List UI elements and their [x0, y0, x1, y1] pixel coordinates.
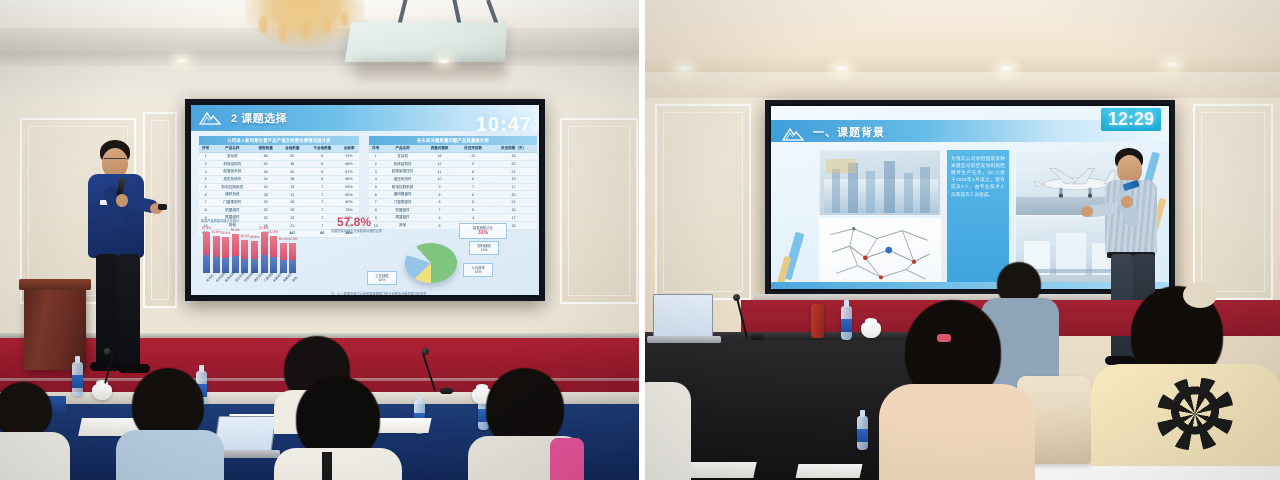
table-row: 5航电控制系统9717	[369, 183, 537, 191]
tea-cup	[92, 384, 112, 400]
table-cell: 32	[252, 206, 279, 214]
table-cell: 20	[490, 191, 537, 199]
table-cell: 80%	[339, 199, 359, 207]
laptop-screen	[653, 294, 713, 338]
bar-segment-top	[241, 240, 248, 259]
document-stack	[374, 418, 431, 433]
table-cell: 46	[279, 160, 306, 168]
table-row: 3起落架液压件11821	[369, 168, 537, 176]
table-header-cell: 改进完成数	[456, 145, 490, 152]
table-row: 1发动机6862691%	[199, 152, 359, 160]
slide-title-right: 一、课题背景	[813, 124, 885, 140]
table-cell: 86%	[339, 176, 359, 184]
bar-segment-bottom	[203, 255, 210, 273]
pie-chart	[405, 243, 457, 283]
table-cell: 7	[199, 199, 212, 207]
ceiling-downlight	[675, 64, 693, 73]
table-row: 1发动机161218	[369, 152, 537, 160]
ceiling-downlight	[437, 58, 451, 64]
bar-value-label: 51.8%	[212, 230, 221, 234]
thermos-flask	[811, 304, 824, 338]
presenter-hand-left	[116, 194, 128, 207]
table-cell: 7	[306, 183, 339, 191]
table-cell: 3	[369, 168, 382, 176]
wall-panel	[655, 104, 751, 300]
table-caption: 各车间关键质量问题产品数量统计表	[369, 136, 537, 145]
table-cell: 门窗零部件	[382, 199, 422, 207]
table-row: 3起落架系统4640687%	[199, 168, 359, 176]
table-cell: 38	[279, 176, 306, 184]
table-cell: 40	[279, 168, 306, 176]
table-row: 6通风系统3831782%	[199, 191, 359, 199]
bar-chart-bar: 57.8%	[261, 232, 268, 273]
bar-segment-top	[251, 241, 258, 259]
pie-legend-value: 62%	[370, 278, 394, 282]
presenter-hand-left	[1121, 196, 1133, 208]
water-bottle	[72, 362, 83, 396]
mountain-logo-icon	[198, 110, 224, 126]
table-cell: 17	[490, 214, 537, 222]
table-row: 2机体结构件12922	[369, 160, 537, 168]
pie-legend-value: 13%	[472, 248, 496, 252]
table-cell: 2	[199, 160, 212, 168]
table-microphone-head	[104, 348, 111, 355]
bar-chart-bar: 50.4%	[222, 237, 229, 273]
table-cell: 7	[423, 206, 457, 214]
table-cell: 12	[456, 152, 490, 160]
pie-legend-3: 材料缺陷 13%	[469, 241, 499, 255]
table-cell: 5	[369, 183, 382, 191]
computer-mouse	[727, 334, 741, 343]
table-cell: 尾翼组件	[382, 214, 422, 222]
table-cell: 8	[423, 199, 457, 207]
table-row: 7门窗零部件3528780%	[199, 199, 359, 207]
table-header-cell: 合格数量	[279, 145, 306, 152]
highlight-percent: 57.8%	[337, 215, 371, 229]
table-cell: 68	[252, 152, 279, 160]
table-cell: 7	[306, 206, 339, 214]
chart-note: 各类产品质量问题占比统计	[201, 218, 239, 223]
table-cell: 门窗零部件	[212, 199, 252, 207]
bar-chart-bar: 42.3%	[289, 243, 296, 273]
table-cell: 6	[306, 176, 339, 184]
bar-value-label: 54.6%	[231, 228, 240, 232]
table-cell: 12	[423, 160, 457, 168]
table-cell: 机翼组件	[382, 206, 422, 214]
document-stack	[796, 464, 863, 478]
presenter-left	[78, 140, 158, 380]
table-cell: 起落架系统	[212, 168, 252, 176]
table-cell: 17	[490, 183, 537, 191]
table-cell: 11	[423, 168, 457, 176]
table-cell: 8	[423, 191, 457, 199]
table-cell: 8	[456, 176, 490, 184]
bar-value-label: 50.4%	[221, 231, 230, 235]
table-cell: 87%	[339, 168, 359, 176]
table-cell: 3	[199, 168, 212, 176]
mountain-logo-icon	[781, 126, 807, 142]
dual-photo-composite: 2 课题选择 10:47 公司进入新时期主营产品产值及经营业绩情况统计表 序号产…	[0, 0, 1280, 480]
table-cell: 起落架液压件	[382, 168, 422, 176]
bar-category-label: 通风系统	[253, 275, 261, 283]
table-cell: 22	[490, 160, 537, 168]
hair-clip	[1183, 282, 1217, 308]
table-cell: 4	[369, 176, 382, 184]
bar-segment-top	[280, 243, 287, 260]
table-cell: 液压系统件	[382, 176, 422, 184]
table-header-cell: 序号	[199, 145, 212, 152]
table-cell: 10	[423, 176, 457, 184]
ceiling-projector	[345, 22, 507, 62]
clock-right: 12:29	[1101, 108, 1161, 131]
data-table-right: 各车间关键质量问题产品数量统计表 序号产品名称质量问题数改进完成数改进周期（天）…	[369, 136, 537, 230]
bar-chart-bar: 51.8%	[213, 236, 220, 273]
bar-segment-top	[232, 234, 239, 256]
bar-chart-bar: 57.8%	[203, 232, 210, 273]
table-cell: 16	[490, 206, 537, 214]
stats-table-products: 序号产品名称销售数量合格数量不合格数量合格率 1发动机6862691%2机体结构…	[199, 145, 359, 237]
table-cell: 83%	[339, 183, 359, 191]
bar-value-label: 42.3%	[288, 237, 297, 241]
bar-chart-bar: 52.8%	[270, 236, 277, 273]
projector-shadow	[356, 60, 506, 80]
table-cell: 31	[279, 191, 306, 199]
table-cell: 30	[252, 214, 279, 222]
bar-value-label: 52.8%	[269, 230, 278, 234]
table-cell: 33	[279, 183, 306, 191]
table-row: 8机翼组件3225778%	[199, 206, 359, 214]
bar-category-label: 门窗零部件	[263, 275, 271, 283]
table-cell: 7	[306, 199, 339, 207]
table-cell: 4	[456, 214, 490, 222]
bar-chart: 57.8%51.8%50.4%54.6%46.4%45.6%57.8%52.8%…	[203, 227, 296, 273]
table-header-cell: 质量问题数	[423, 145, 457, 152]
ceiling-upper	[645, 0, 1280, 64]
table-cell: 23	[279, 214, 306, 222]
table-cell: 5	[199, 183, 212, 191]
table-row: 9尾翼组件6417	[369, 214, 537, 222]
table-cell: 91%	[339, 152, 359, 160]
table-cell: 7	[306, 191, 339, 199]
bar-chart-xaxis: 发动机机体结构件起落架系统液压系统件航电控制系统通风系统门窗零部件机翼组件尾翼组…	[203, 275, 296, 279]
table-cell: 发动机	[212, 152, 252, 160]
table-row: 8机翼组件7516	[369, 206, 537, 214]
table-cell: 52	[252, 160, 279, 168]
table-cell: 机体结构件	[212, 160, 252, 168]
table-cell: 62	[279, 152, 306, 160]
slide-left: 2 课题选择 10:47 公司进入新时期主营产品产值及经营业绩情况统计表 序号产…	[191, 105, 539, 295]
table-cell: 通风管道件	[382, 191, 422, 199]
bar-value-label: 43.1%	[279, 237, 288, 241]
document-stack	[683, 462, 756, 478]
bar-category-label: 起落架系统	[224, 275, 232, 283]
table-header-cell: 不合格数量	[306, 145, 339, 152]
table-cell: 6	[456, 191, 490, 199]
table-cell: 82%	[339, 191, 359, 199]
table-cell: 21	[490, 168, 537, 176]
table-cell: 6	[306, 168, 339, 176]
table-cell: 8	[456, 168, 490, 176]
table-cell: 液压系统件	[212, 176, 252, 184]
table-header-cell: 产品名称	[212, 145, 252, 152]
presenter-hand-right	[1081, 206, 1093, 217]
bar-category-label: 尾翼组件	[282, 275, 290, 283]
table-cell: 8	[369, 206, 382, 214]
bar-value-label: 57.8%	[202, 226, 211, 230]
table-microphone-head	[733, 294, 740, 301]
table-cell: 88%	[339, 160, 359, 168]
bar-category-label: 机翼组件	[272, 275, 280, 283]
right-conference-photo: 一、课题背景 12:29	[645, 0, 1280, 480]
table-cell: 9	[456, 160, 490, 168]
bar-value-label: 57.8%	[260, 226, 269, 230]
table-cell: 5	[456, 199, 490, 207]
bar-value-label: 46.4%	[240, 234, 249, 238]
table-header-cell: 销售数量	[252, 145, 279, 152]
table-row: 4液压系统件4438686%	[199, 176, 359, 184]
table-cell: 1	[199, 152, 212, 160]
table-header-cell: 序号	[369, 145, 382, 152]
background-text-block: 为落实公司承担国家某种关键型号航空发动机机匣模件生产任务，QC小组于2019年1…	[947, 150, 1009, 289]
pie-legend-2: 人为操作 18%	[463, 263, 493, 277]
table-header-cell: 产品名称	[382, 145, 422, 152]
laptop-keyboard	[647, 336, 721, 343]
table-cell: 1	[369, 152, 382, 160]
pipeline-map-diagram	[819, 218, 941, 289]
presenter-glasses	[104, 158, 126, 163]
table-row: 4液压系统件10819	[369, 176, 537, 184]
table-cell: 6	[423, 214, 457, 222]
table-microphone-base	[751, 334, 764, 340]
bar-chart-bar: 46.4%	[241, 240, 248, 273]
ceiling-downlight	[1163, 60, 1181, 69]
bar-category-label: 机体结构件	[215, 275, 223, 283]
table-cell: 24	[490, 199, 537, 207]
table-cell: 6	[199, 191, 212, 199]
ceiling-downlight	[175, 58, 189, 64]
table-cell: 6	[306, 160, 339, 168]
table-cell: 5	[456, 206, 490, 214]
bar-value-label: 45.6%	[250, 235, 259, 239]
callout-value: 31%	[462, 230, 504, 236]
table-cell: 6	[369, 191, 382, 199]
factory-overview-photo	[819, 150, 941, 216]
table-caption: 公司进入新时期主营产品产值及经营业绩情况统计表	[199, 136, 359, 145]
table-cell: 7	[456, 183, 490, 191]
ceiling-downlight	[833, 64, 851, 73]
slide-title-left: 2 课题选择	[231, 110, 287, 126]
bar-segment-bottom	[261, 255, 268, 273]
table-microphone-base	[440, 388, 453, 394]
bar-category-label: 液压系统件	[234, 275, 242, 283]
bar-segment-top	[203, 232, 210, 255]
water-bottle	[857, 416, 868, 450]
table-microphone-head	[422, 348, 429, 355]
table-cell: 4	[199, 176, 212, 184]
bar-category-label: 发动机	[205, 275, 213, 283]
table-cell: 40	[252, 183, 279, 191]
table-cell: 7	[306, 214, 339, 222]
bar-category-label: 航电控制系统	[244, 275, 252, 283]
table-cell: 航电控制系统	[212, 183, 252, 191]
table-row: 2机体结构件5246688%	[199, 160, 359, 168]
bar-segment-top	[222, 237, 229, 257]
table-cell: 机翼组件	[212, 206, 252, 214]
bar-chart-bar: 43.1%	[280, 243, 287, 273]
table-cell: 16	[423, 152, 457, 160]
highlight-percent-note: 关键质量问题占全部质量问题的比重	[331, 229, 427, 233]
presenter-leg-right	[118, 254, 140, 368]
table-header-cell: 改进周期（天）	[490, 145, 537, 152]
presenter-clicker	[158, 204, 167, 210]
table-row: 5航电控制系统4033783%	[199, 183, 359, 191]
table-row: 7门窗零部件8524	[369, 199, 537, 207]
bar-segment-top	[261, 232, 268, 255]
table-cell: 38	[252, 191, 279, 199]
left-conference-photo: 2 课题选择 10:47 公司进入新时期主营产品产值及经营业绩情况统计表 序号产…	[0, 0, 639, 480]
table-cell: 通风系统	[212, 191, 252, 199]
projection-screen-left: 2 课题选择 10:47 公司进入新时期主营产品产值及经营业绩情况统计表 序号产…	[185, 99, 545, 301]
wall-panel	[560, 118, 638, 304]
table-header-cell: 合格率	[339, 145, 359, 152]
table-cell: 19	[490, 176, 537, 184]
bar-category-label: 其他	[291, 275, 299, 283]
presenter-shoe-right	[118, 364, 150, 373]
table-cell: 25	[279, 206, 306, 214]
table-cell: 8	[199, 206, 212, 214]
table-cell: 航电控制系统	[382, 183, 422, 191]
water-bottle	[841, 306, 852, 340]
table-cell: 5	[423, 222, 457, 230]
table-cell: 46	[252, 168, 279, 176]
table-cell: 28	[279, 199, 306, 207]
table-cell: 6	[306, 152, 339, 160]
callout-high-defect: 高发缺陷占比 31%	[459, 223, 507, 239]
table-cell: 35	[252, 199, 279, 207]
bar-chart-bar: 54.6%	[232, 234, 239, 273]
presenter-shoe-left	[90, 362, 120, 371]
pie-legend-value: 18%	[466, 270, 490, 274]
table-cell: 18	[490, 152, 537, 160]
stats-table-defects: 序号产品名称质量问题数改进完成数改进周期（天） 1发动机1612182机体结构件…	[369, 145, 537, 230]
table-cell: 78%	[339, 206, 359, 214]
slide-footnote: 注：以上数据来源于公司质量管理部门统计台账及月度质量分析报告	[331, 291, 427, 295]
bar-segment-bottom	[213, 257, 220, 273]
pie-legend-1: 工艺缺陷 62%	[367, 271, 397, 285]
table-cell: 7	[369, 199, 382, 207]
photo-gutter	[639, 0, 645, 480]
tea-cup	[861, 322, 881, 338]
ceiling-downlight	[997, 64, 1015, 73]
shirt-graphic	[1157, 378, 1233, 450]
table-cell: 发动机	[382, 152, 422, 160]
table-cell: 2	[369, 160, 382, 168]
table-cell: 9	[423, 183, 457, 191]
clock-left: 10:47	[476, 114, 532, 137]
table-cell: 机体结构件	[382, 160, 422, 168]
table-row: 6通风管道件8620	[369, 191, 537, 199]
table-cell: 44	[252, 176, 279, 184]
bar-segment-top	[289, 243, 296, 260]
bar-segment-top	[270, 236, 277, 257]
wall-panel	[1193, 104, 1273, 300]
bar-segment-top	[213, 236, 220, 257]
